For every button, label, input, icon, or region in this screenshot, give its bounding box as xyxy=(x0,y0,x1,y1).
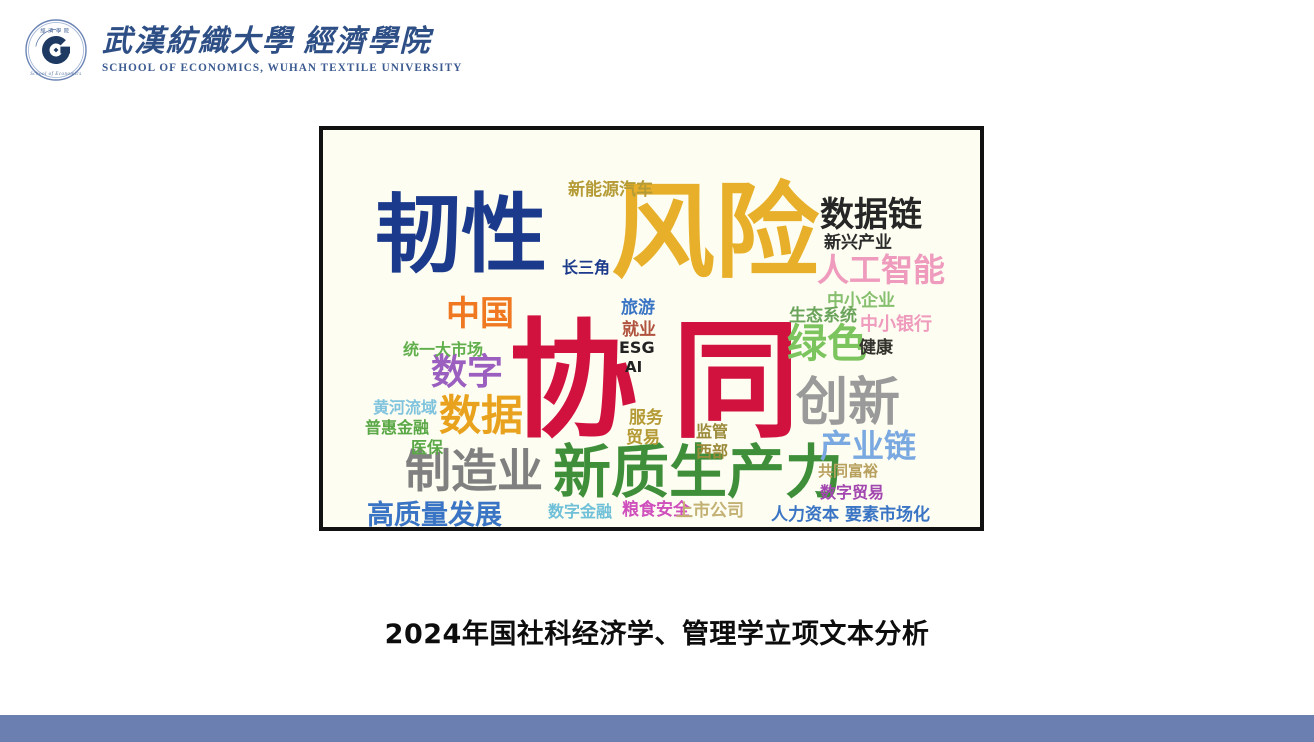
wordcloud-word: 新兴产业 xyxy=(824,235,892,252)
wordcloud-word: 数字 xyxy=(431,355,503,391)
wordcloud-word: 同 xyxy=(672,318,800,446)
wordcloud-word: 旅游 xyxy=(621,300,655,317)
university-name-en: SCHOOL OF ECONOMICS, WUHAN TEXTILE UNIVE… xyxy=(102,61,462,76)
svg-text:School of Economics: School of Economics xyxy=(30,72,81,77)
wordcloud-word: 数字金融 xyxy=(548,504,612,520)
wordcloud-word: 绿色 xyxy=(787,324,867,364)
wordcloud-word: 中小银行 xyxy=(860,316,932,334)
wordcloud-word: 统一大市场 xyxy=(403,342,483,358)
wordcloud-word: 数字贸易 xyxy=(820,485,884,501)
wordcloud-word: AI xyxy=(625,360,642,375)
university-name-cn: 武漢紡織大學 經濟學院 xyxy=(102,25,462,59)
wordcloud-word: 共同富裕 xyxy=(818,464,878,479)
bottom-accent-bar xyxy=(0,715,1314,742)
wordcloud-word: 产业链 xyxy=(820,430,916,462)
wordcloud-word: 高质量发展 xyxy=(367,502,502,529)
wordcloud-word: 创新 xyxy=(796,377,900,429)
wordcloud-word: 新能源汽车 xyxy=(568,182,653,199)
wordcloud-word: 协 xyxy=(509,318,637,446)
wordcloud-word: 黄河流域 xyxy=(373,400,437,416)
wordcloud-word: 贸易 xyxy=(626,430,660,447)
wordcloud-word: 长三角 xyxy=(562,260,610,276)
wordcloud-word: 监管 xyxy=(696,424,728,440)
wordcloud-word: 西部 xyxy=(696,444,728,460)
wordcloud-word: 人力资本 xyxy=(771,507,839,524)
wordcloud-word: 数据链 xyxy=(820,198,922,232)
svg-text:經濟學院: 經濟學院 xyxy=(40,27,71,35)
wordcloud-word: 服务 xyxy=(629,410,663,427)
wordcloud-word: 生态系统 xyxy=(789,308,857,325)
wordcloud-word: 就业 xyxy=(622,322,656,339)
wordcloud-word: ESG xyxy=(619,340,655,356)
wordcloud-word: 中国 xyxy=(446,297,514,331)
slide-caption: 2024年国社科经济学、管理学立项文本分析 xyxy=(0,612,1314,651)
logo-wordmark: 武漢紡織大學 經濟學院 SCHOOL OF ECONOMICS, WUHAN T… xyxy=(102,25,462,75)
wordcloud-word: 医保 xyxy=(411,440,443,456)
wordcloud-word: 上市公司 xyxy=(676,503,744,520)
wordcloud-word: 韧性 xyxy=(375,192,547,278)
wordcloud-figure: 韧性风险协同新质生产力制造业创新数据链人工智能绿色产业链数据数字中国高质量发展新… xyxy=(319,126,984,531)
wordcloud-word: 人工智能 xyxy=(817,254,945,286)
wordcloud-word: 普惠金融 xyxy=(365,420,429,436)
wordcloud-word: 健康 xyxy=(859,340,893,357)
wordcloud-word: 要素市场化 xyxy=(845,507,930,524)
header-logo-lockup: 經濟學院 School of Economics 武漢紡織大學 經濟學院 SCH… xyxy=(24,18,462,82)
university-seal-icon: 經濟學院 School of Economics xyxy=(24,18,88,82)
wordcloud-word: 数据 xyxy=(439,395,523,437)
